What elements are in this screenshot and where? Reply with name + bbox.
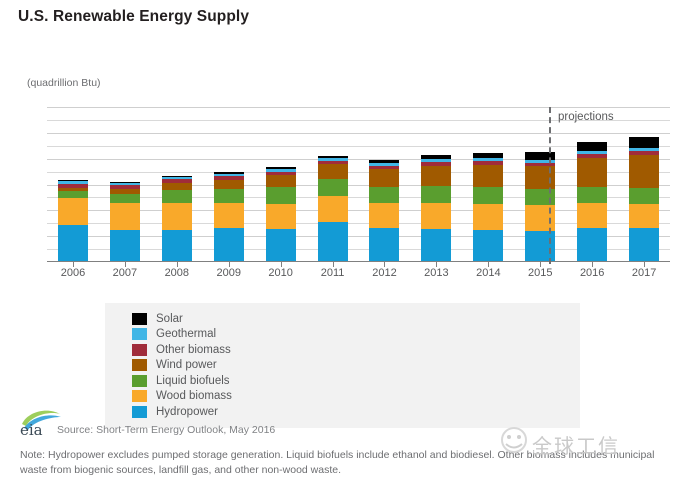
bar-segment-liquid-biofuels[interactable]: [473, 187, 503, 204]
x-axis-label-2009: 2009: [203, 267, 255, 279]
bar-segment-hydropower[interactable]: [473, 230, 503, 262]
bar-segment-wood-biomass[interactable]: [369, 203, 399, 228]
bar-segment-wind-power[interactable]: [629, 155, 659, 188]
bar-group-2016[interactable]: [566, 107, 618, 262]
legend-swatch: [132, 375, 147, 387]
legend-label: Solar: [156, 313, 183, 325]
x-axis-label-2012: 2012: [359, 267, 411, 279]
bar-group-2014[interactable]: [462, 107, 514, 262]
bar-segment-wind-power[interactable]: [318, 164, 348, 179]
stacked-bar[interactable]: [577, 142, 607, 262]
legend-swatch: [132, 328, 147, 340]
x-axis-label-2008: 2008: [151, 267, 203, 279]
bar-segment-wind-power[interactable]: [369, 169, 399, 186]
stacked-bar-series: [47, 107, 670, 262]
x-axis-label-2007: 2007: [99, 267, 151, 279]
bar-group-2006[interactable]: [47, 107, 99, 262]
page-title: U.S. Renewable Energy Supply: [18, 8, 249, 26]
legend-swatch: [132, 406, 147, 418]
stacked-bar[interactable]: [162, 176, 192, 262]
bar-segment-wood-biomass[interactable]: [266, 204, 296, 230]
bar-segment-wind-power[interactable]: [577, 158, 607, 187]
stacked-bar[interactable]: [318, 156, 348, 262]
bar-group-2010[interactable]: [255, 107, 307, 262]
bar-segment-wind-power[interactable]: [473, 165, 503, 187]
stacked-bar[interactable]: [421, 155, 451, 262]
stacked-bar[interactable]: [473, 153, 503, 262]
note-text: Note: Hydropower excludes pumped storage…: [20, 448, 670, 477]
bar-segment-solar[interactable]: [629, 137, 659, 148]
bar-segment-liquid-biofuels[interactable]: [162, 190, 192, 202]
legend-item-liquid-biofuels[interactable]: Liquid biofuels: [132, 373, 232, 389]
bar-segment-wood-biomass[interactable]: [58, 198, 88, 225]
legend-item-wood-biomass[interactable]: Wood biomass: [132, 389, 232, 405]
bar-group-2007[interactable]: [99, 107, 151, 262]
legend-item-wind-power[interactable]: Wind power: [132, 358, 232, 374]
stacked-bar[interactable]: [369, 160, 399, 262]
stacked-bar[interactable]: [266, 167, 296, 262]
bar-group-2012[interactable]: [359, 107, 411, 262]
stacked-bar[interactable]: [214, 172, 244, 262]
bar-segment-wind-power[interactable]: [266, 175, 296, 187]
legend-label: Geothermal: [156, 328, 216, 340]
bar-segment-liquid-biofuels[interactable]: [629, 188, 659, 204]
chart-plot-area: 024681012: [47, 107, 670, 262]
bar-segment-liquid-biofuels[interactable]: [318, 179, 348, 196]
bar-segment-hydropower[interactable]: [214, 228, 244, 262]
legend-swatch: [132, 313, 147, 325]
legend-label: Other biomass: [156, 344, 231, 356]
bar-segment-liquid-biofuels[interactable]: [110, 194, 140, 203]
legend-label: Wind power: [156, 359, 217, 371]
bar-segment-wood-biomass[interactable]: [162, 203, 192, 230]
bar-segment-wood-biomass[interactable]: [473, 204, 503, 230]
x-axis-label-2016: 2016: [566, 267, 618, 279]
legend-item-hydropower[interactable]: Hydropower: [132, 404, 232, 420]
legend: SolarGeothermalOther biomassWind powerLi…: [132, 311, 232, 420]
bar-segment-liquid-biofuels[interactable]: [577, 187, 607, 203]
projection-label: projections: [558, 111, 614, 123]
bar-group-2009[interactable]: [203, 107, 255, 262]
bar-segment-wood-biomass[interactable]: [318, 196, 348, 222]
bar-segment-hydropower[interactable]: [421, 229, 451, 262]
bar-segment-hydropower[interactable]: [577, 228, 607, 262]
legend-item-geothermal[interactable]: Geothermal: [132, 327, 232, 343]
stacked-bar[interactable]: [629, 137, 659, 262]
bar-group-2017[interactable]: [618, 107, 670, 262]
stacked-bar[interactable]: [110, 182, 140, 262]
x-axis-label-2011: 2011: [307, 267, 359, 279]
bar-segment-wind-power[interactable]: [421, 166, 451, 187]
bar-segment-liquid-biofuels[interactable]: [266, 187, 296, 203]
bar-segment-liquid-biofuels[interactable]: [58, 191, 88, 198]
projection-divider-line: [549, 107, 551, 264]
x-axis-label-2013: 2013: [410, 267, 462, 279]
legend-item-solar[interactable]: Solar: [132, 311, 232, 327]
bar-segment-wood-biomass[interactable]: [629, 204, 659, 229]
x-axis-line: [47, 261, 670, 262]
x-axis-label-2017: 2017: [618, 267, 670, 279]
x-axis-label-2006: 2006: [47, 267, 99, 279]
bar-segment-hydropower[interactable]: [369, 228, 399, 262]
bar-segment-hydropower[interactable]: [318, 222, 348, 262]
stacked-bar[interactable]: [58, 180, 88, 262]
bar-segment-wind-power[interactable]: [214, 180, 244, 189]
x-axis-label-2014: 2014: [462, 267, 514, 279]
bar-segment-hydropower[interactable]: [266, 229, 296, 262]
bar-segment-liquid-biofuels[interactable]: [369, 187, 399, 203]
bar-segment-hydropower[interactable]: [629, 228, 659, 262]
bar-group-2015[interactable]: [514, 107, 566, 262]
bar-segment-hydropower[interactable]: [110, 230, 140, 262]
bar-segment-wood-biomass[interactable]: [421, 203, 451, 229]
bar-segment-liquid-biofuels[interactable]: [214, 189, 244, 203]
legend-swatch: [132, 359, 147, 371]
legend-label: Hydropower: [156, 406, 218, 418]
bar-segment-wood-biomass[interactable]: [577, 203, 607, 228]
x-axis-label-2015: 2015: [514, 267, 566, 279]
legend-swatch: [132, 344, 147, 356]
bar-segment-hydropower[interactable]: [58, 225, 88, 262]
legend-label: Wood biomass: [156, 390, 232, 402]
bar-segment-hydropower[interactable]: [162, 230, 192, 262]
svg-text:eia: eia: [20, 421, 43, 437]
legend-item-other-biomass[interactable]: Other biomass: [132, 342, 232, 358]
x-axis-label-2010: 2010: [255, 267, 307, 279]
x-axis-tick-labels: 2006200720082009201020112012201320142015…: [47, 267, 670, 279]
bar-segment-solar[interactable]: [577, 142, 607, 151]
bar-segment-liquid-biofuels[interactable]: [421, 186, 451, 203]
bar-group-2013[interactable]: [410, 107, 462, 262]
bar-group-2008[interactable]: [151, 107, 203, 262]
bar-segment-wind-power[interactable]: [162, 183, 192, 190]
source-text: Source: Short-Term Energy Outlook, May 2…: [57, 424, 275, 436]
bar-segment-wood-biomass[interactable]: [214, 203, 244, 228]
legend-swatch: [132, 390, 147, 402]
bar-segment-wood-biomass[interactable]: [110, 203, 140, 231]
legend-label: Liquid biofuels: [156, 375, 230, 387]
y-axis-units-label: (quadrillion Btu): [27, 77, 101, 89]
bar-group-2011[interactable]: [307, 107, 359, 262]
